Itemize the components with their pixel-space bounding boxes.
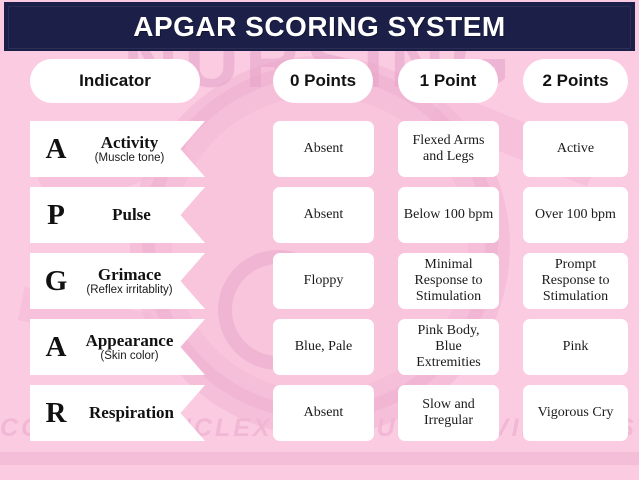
indicator-letter: A: [40, 135, 72, 164]
indicator-subtitle: (Muscle tone): [72, 152, 187, 164]
score-cell-2-points: Over 100 bpm: [523, 187, 628, 243]
indicator-banner: A Activity (Muscle tone): [30, 121, 205, 177]
score-cell-0-points: Absent: [273, 121, 374, 177]
indicator-title: Appearance: [72, 332, 187, 350]
score-cell-0-points: Absent: [273, 385, 374, 441]
indicator-letter: A: [40, 333, 72, 362]
indicator-text: Grimace (Reflex irritablity): [72, 266, 205, 297]
indicator-text: Pulse: [72, 206, 205, 224]
indicator-banner: G Grimace (Reflex irritablity): [30, 253, 205, 309]
score-cell-1-point: Pink Body, Blue Extremities: [398, 319, 499, 375]
table-header-row: Indicator 0 Points 1 Point 2 Points: [0, 59, 639, 107]
indicator-title: Pulse: [72, 206, 191, 224]
table-row: A Activity (Muscle tone) Absent Flexed A…: [0, 121, 639, 177]
indicator-letter: R: [40, 399, 72, 428]
title-banner: APGAR SCORING SYSTEM: [4, 2, 635, 51]
score-cell-1-point: Below 100 bpm: [398, 187, 499, 243]
table-row: R Respiration Absent Slow and Irregular …: [0, 385, 639, 441]
column-header-0-points: 0 Points: [273, 59, 373, 103]
indicator-banner: R Respiration: [30, 385, 205, 441]
column-header-indicator: Indicator: [30, 59, 200, 103]
score-cell-2-points: Vigorous Cry: [523, 385, 628, 441]
indicator-text: Activity (Muscle tone): [72, 134, 205, 165]
apgar-scoring-poster: NURSING COMPLETE NCLEX MED SURG REVIEW S…: [0, 0, 639, 480]
score-cell-1-point: Slow and Irregular: [398, 385, 499, 441]
indicator-title: Activity: [72, 134, 187, 152]
score-cell-2-points: Prompt Response to Stimulation: [523, 253, 628, 309]
indicator-letter: P: [40, 201, 72, 230]
indicator-letter: G: [40, 267, 72, 296]
score-cell-1-point: Flexed Arms and Legs: [398, 121, 499, 177]
table-row: A Appearance (Skin color) Blue, Pale Pin…: [0, 319, 639, 375]
table-row: P Pulse Absent Below 100 bpm Over 100 bp…: [0, 187, 639, 243]
score-cell-0-points: Absent: [273, 187, 374, 243]
page-title: APGAR SCORING SYSTEM: [133, 11, 505, 43]
indicator-title: Grimace: [72, 266, 187, 284]
scoring-table: Indicator 0 Points 1 Point 2 Points A Ac…: [0, 51, 639, 480]
score-cell-2-points: Active: [523, 121, 628, 177]
indicator-banner: P Pulse: [30, 187, 205, 243]
indicator-title: Respiration: [72, 404, 191, 422]
score-cell-1-point: Minimal Response to Stimulation: [398, 253, 499, 309]
table-row: G Grimace (Reflex irritablity) Floppy Mi…: [0, 253, 639, 309]
column-header-2-points: 2 Points: [523, 59, 628, 103]
column-header-1-point: 1 Point: [398, 59, 498, 103]
indicator-subtitle: (Skin color): [72, 350, 187, 362]
indicator-text: Respiration: [72, 404, 205, 422]
indicator-banner: A Appearance (Skin color): [30, 319, 205, 375]
score-cell-0-points: Blue, Pale: [273, 319, 374, 375]
indicator-subtitle: (Reflex irritablity): [72, 284, 187, 296]
score-cell-2-points: Pink: [523, 319, 628, 375]
score-cell-0-points: Floppy: [273, 253, 374, 309]
indicator-text: Appearance (Skin color): [72, 332, 205, 363]
